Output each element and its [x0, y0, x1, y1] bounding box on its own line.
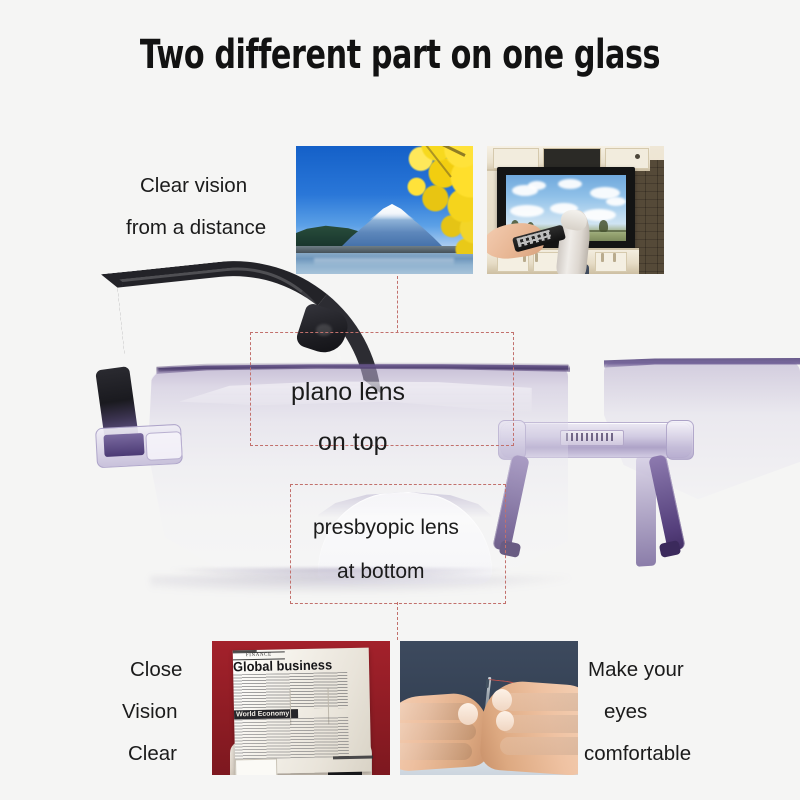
newspaper-chart [235, 758, 278, 775]
temple-tip-highlight [316, 324, 332, 336]
finger [400, 743, 472, 760]
close-vision-clear-line-1: Close [130, 650, 182, 690]
ginkgo-foliage [375, 146, 473, 254]
connector-line-bottom [397, 602, 398, 640]
close-vision-clear-line-3: Clear [128, 734, 177, 774]
presbyopic-lens-label-line-1: presbyopic lens [313, 508, 459, 548]
brand-logo-icon [566, 433, 616, 441]
fingernail [458, 703, 478, 725]
plano-lens-label-line-2: on top [318, 422, 388, 462]
cloud [510, 205, 544, 217]
clear-vision-line-1: Clear vision [140, 166, 247, 206]
newspaper-body-text [234, 717, 349, 759]
finger [400, 723, 476, 740]
finger [504, 693, 578, 711]
make-eyes-comfortable-line-2: eyes [604, 692, 647, 732]
cabinet-opening-center [543, 148, 601, 169]
close-vision-clear-line-2: Vision [122, 692, 177, 732]
cabinet-knob [635, 154, 640, 159]
left-hinge-tab [145, 431, 182, 461]
poster-canvas: Two different part on one glass [0, 0, 800, 800]
newspaper-sheet: FINANCE Global business World Economy Mo… [233, 648, 372, 775]
cabinet-door-right [605, 148, 649, 169]
make-eyes-comfortable-line-1: Make your [588, 650, 684, 690]
page-title: Two different part on one glass [64, 32, 736, 78]
reading-newspaper-photo: FINANCE Global business World Economy Mo… [212, 641, 390, 775]
cloud [606, 197, 626, 206]
make-eyes-comfortable-line-3: comfortable [584, 734, 691, 774]
cabinet-door-left [493, 148, 539, 169]
presbyopic-lens-label-line-2: at bottom [337, 552, 425, 592]
nose-pad-tip-right [659, 540, 681, 558]
clear-vision-line-2: from a distance [126, 208, 266, 248]
bridge-joint-right [666, 420, 694, 460]
finger [500, 737, 578, 755]
cloud [558, 179, 582, 189]
screen-tree [599, 220, 608, 232]
fingernail [496, 711, 514, 731]
fingernail [492, 689, 512, 711]
cloud [528, 181, 546, 190]
newspaper-rule [333, 756, 373, 760]
plano-lens-label-line-1: plano lens [291, 372, 405, 412]
left-hinge-inner [103, 433, 144, 457]
threading-needle-photo [400, 641, 578, 775]
